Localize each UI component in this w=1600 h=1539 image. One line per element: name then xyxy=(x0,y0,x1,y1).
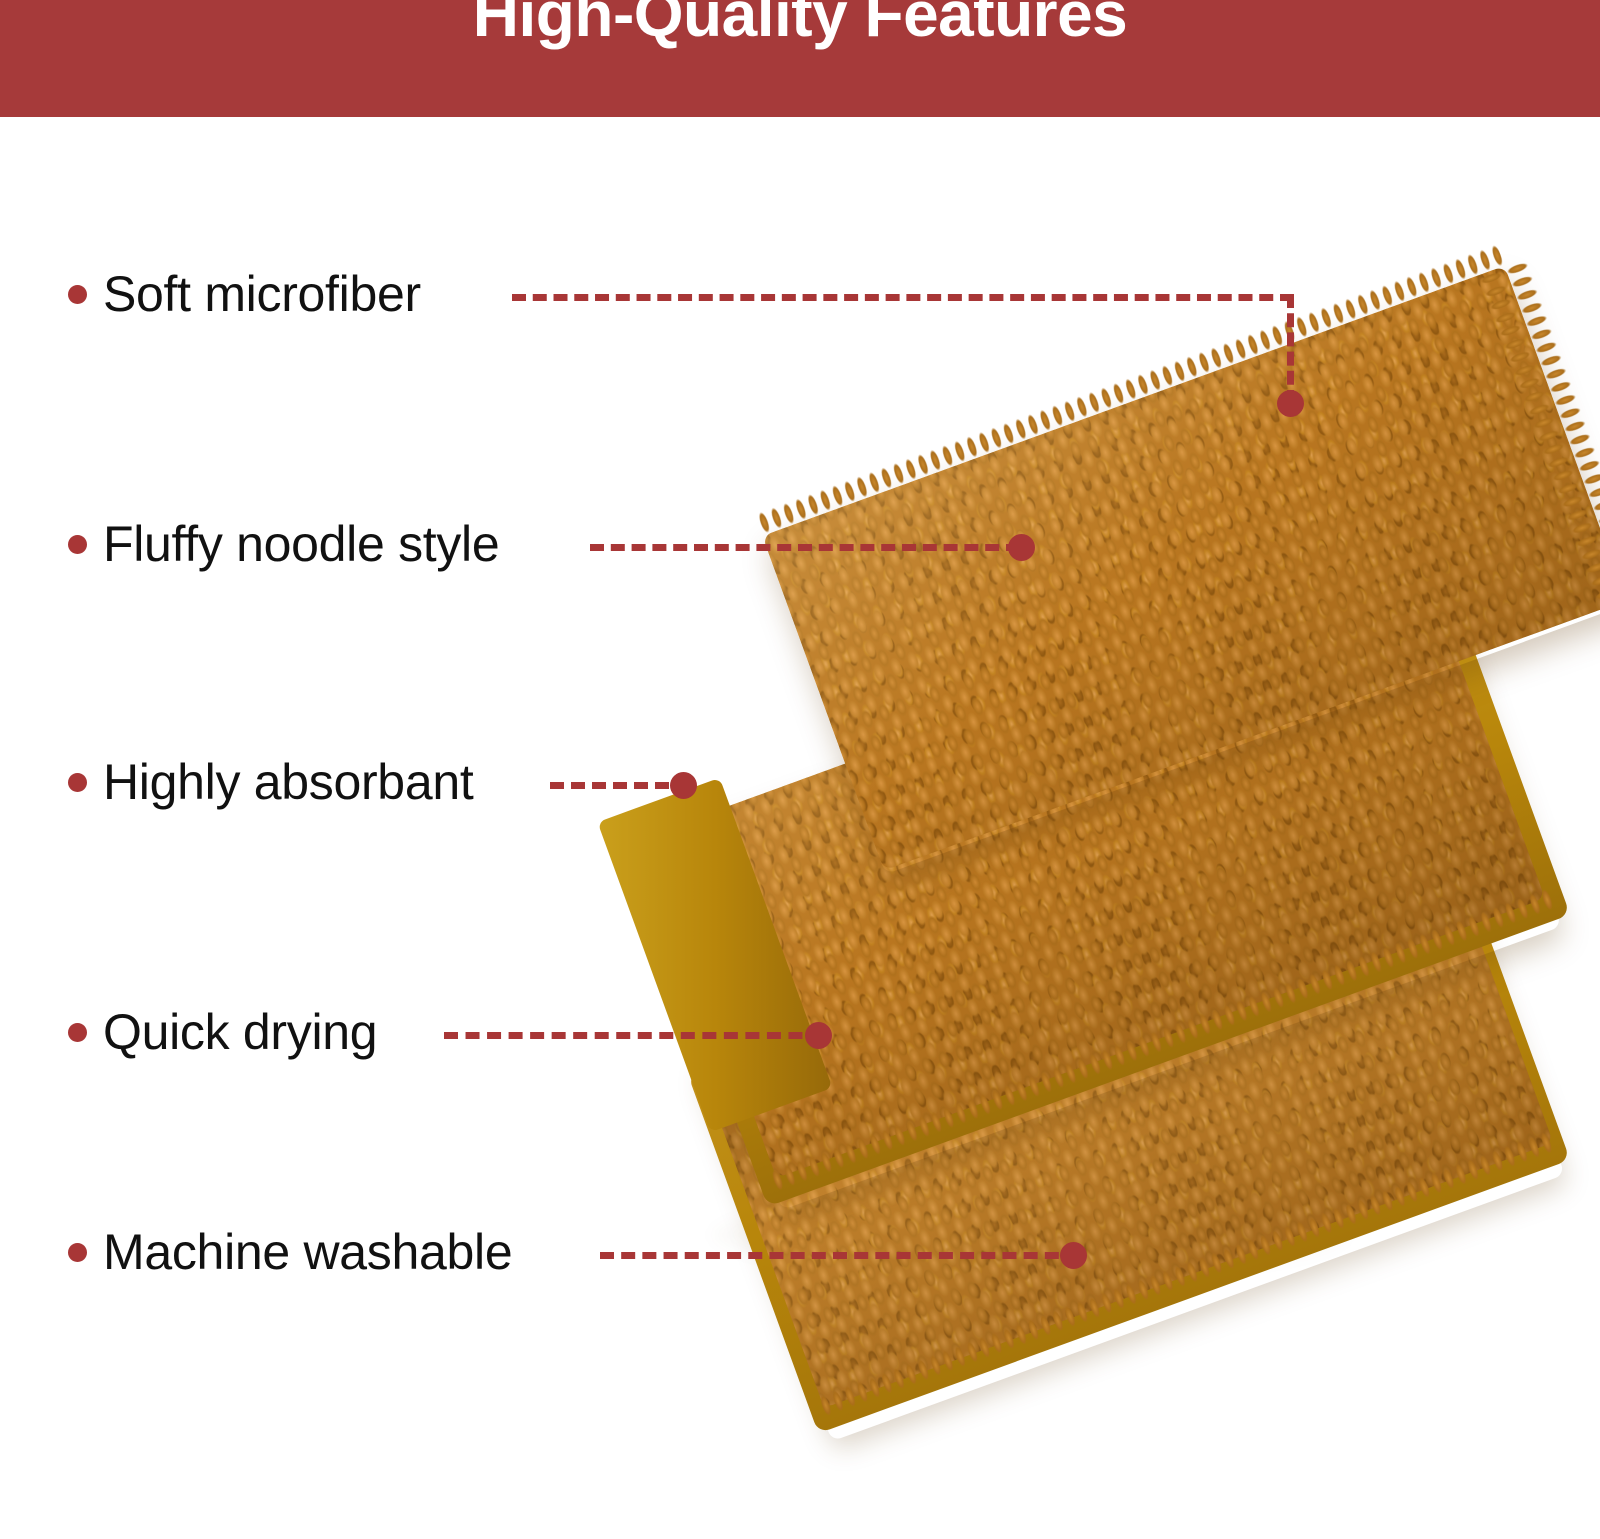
infographic-canvas: High-Quality Features xyxy=(0,0,1600,1539)
bullet-dot-icon xyxy=(68,773,87,792)
leader-line-soft-microfiber-horizontal xyxy=(512,294,1294,301)
leader-endpoint-machine-washable xyxy=(1060,1242,1087,1269)
page-title: High-Quality Features xyxy=(0,0,1600,46)
feature-item-soft-microfiber[interactable]: Soft microfiber xyxy=(68,262,421,326)
leader-line-soft-microfiber-vertical xyxy=(1287,294,1294,404)
feature-item-highly-absorbant[interactable]: Highly absorbant xyxy=(68,750,473,814)
leader-line-quick-drying xyxy=(444,1032,824,1039)
feature-label-highly-absorbant: Highly absorbant xyxy=(103,756,473,809)
feature-item-machine-washable[interactable]: Machine washable xyxy=(68,1220,512,1284)
product-image xyxy=(620,360,1580,1320)
feature-label-machine-washable: Machine washable xyxy=(103,1226,512,1279)
bullet-dot-icon xyxy=(68,1243,87,1262)
leader-endpoint-quick-drying xyxy=(805,1022,832,1049)
leader-endpoint-fluffy-noodle-style xyxy=(1008,534,1035,561)
bullet-dot-icon xyxy=(68,1023,87,1042)
bullet-dot-icon xyxy=(68,535,87,554)
leader-endpoint-soft-microfiber xyxy=(1277,390,1304,417)
feature-label-fluffy-noodle-style: Fluffy noodle style xyxy=(103,518,499,571)
leader-endpoint-highly-absorbant xyxy=(670,772,697,799)
feature-label-soft-microfiber: Soft microfiber xyxy=(103,268,421,321)
leader-line-highly-absorbant xyxy=(550,782,690,789)
feature-label-quick-drying: Quick drying xyxy=(103,1006,377,1059)
header-band: High-Quality Features xyxy=(0,0,1600,117)
leader-line-machine-washable xyxy=(600,1252,1080,1259)
bullet-dot-icon xyxy=(68,285,87,304)
feature-item-quick-drying[interactable]: Quick drying xyxy=(68,1000,377,1064)
feature-item-fluffy-noodle-style[interactable]: Fluffy noodle style xyxy=(68,512,499,576)
leader-line-fluffy-noodle-style xyxy=(590,544,1020,551)
